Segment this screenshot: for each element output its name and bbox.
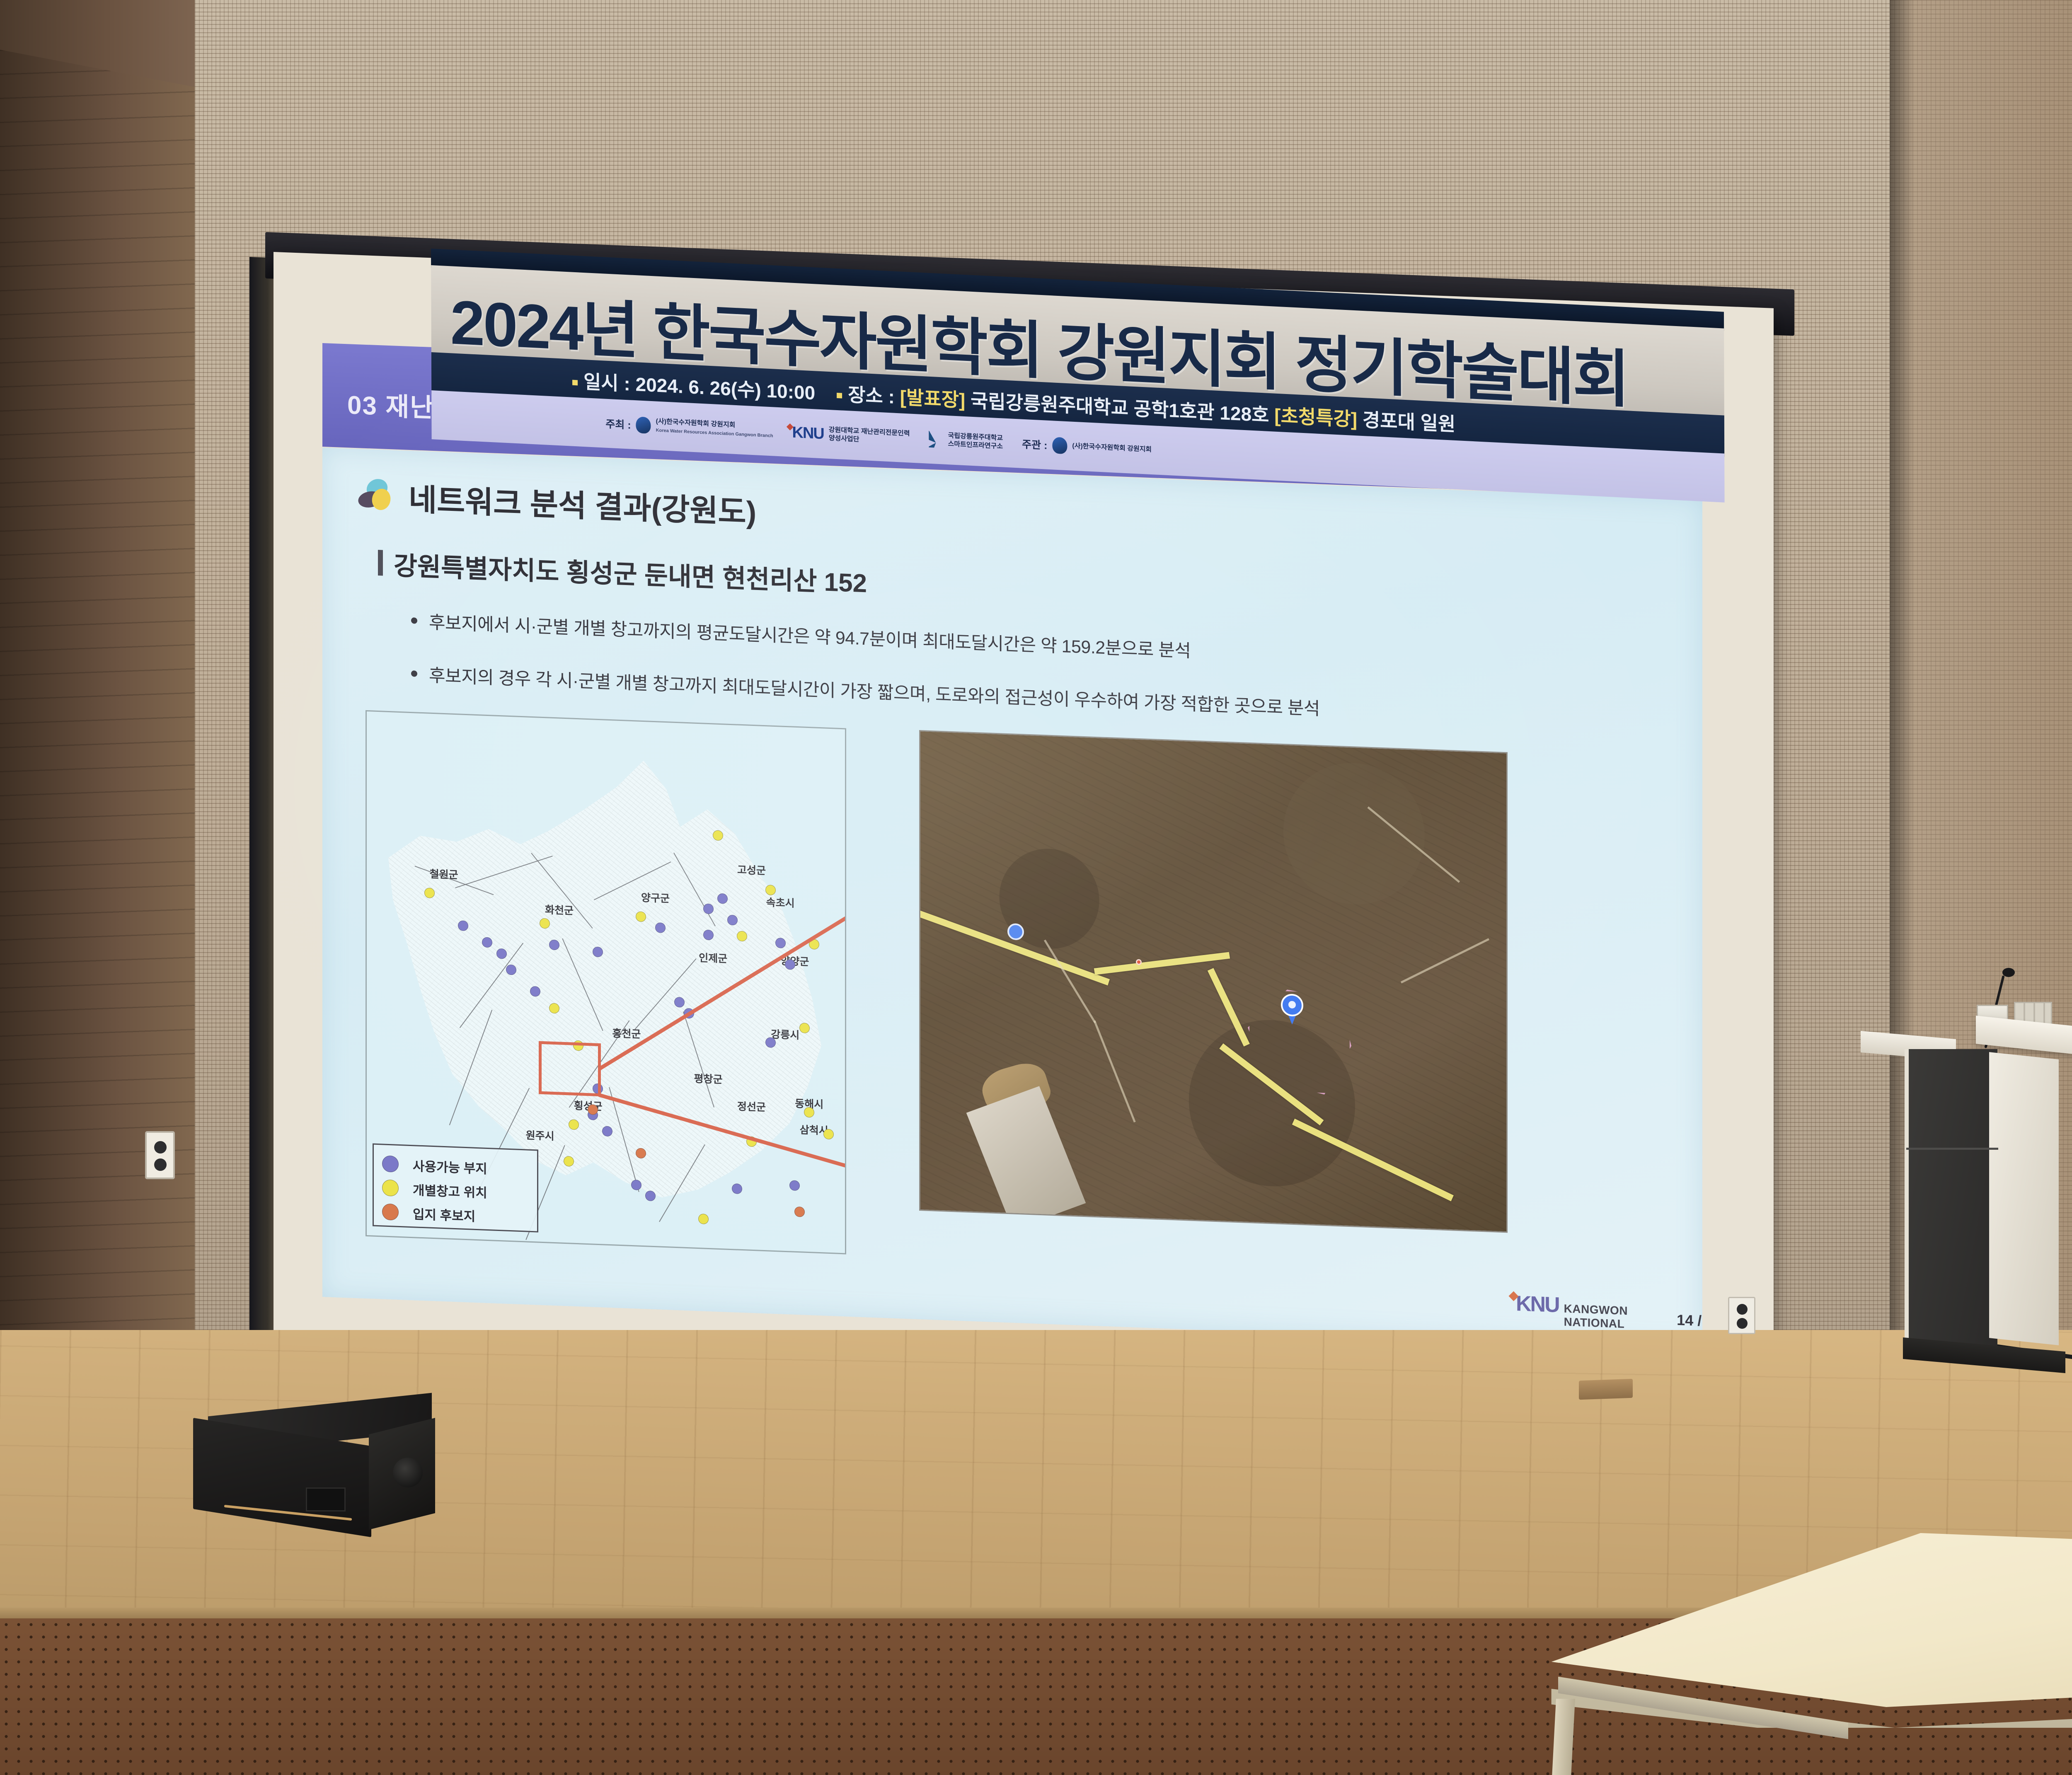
legend-label: 개별창고 위치 (413, 1180, 487, 1201)
province-outline (379, 737, 835, 1218)
map-point-available-site (593, 946, 603, 957)
banner-sponsor-gwnu: 국립강릉원주대학교 스마트인프라연구소 (929, 431, 1003, 451)
map-point-warehouse (424, 888, 435, 898)
map-point-available-site (602, 1126, 612, 1137)
bullet-text: 후보지에서 시·군별 개별 창고까지의 평균도달시간은 약 94.7분이며 최대… (429, 608, 1191, 663)
banner-bullet-square-icon (837, 393, 842, 399)
bullet-dot-icon (411, 670, 417, 677)
map-point-warehouse (765, 885, 776, 895)
projected-slide: 네트워크 분석 결과(강원도) 강원특별자치도 횡성군 둔내면 현천리산 152… (322, 447, 1702, 1349)
banner-sponsor-knu: KNU 강원대학교 재난관리전문인력 양성사업단 (792, 423, 910, 447)
stage-floor-inset-panel (1579, 1379, 1633, 1400)
banner-host-name-ko: (사)한국수자원학회 강원지회 (656, 418, 736, 429)
banner-host-name: (사)한국수자원학회 강원지회 Korea Water Resources As… (656, 418, 773, 440)
county-label: 정선군 (737, 1098, 766, 1115)
podium-drawer-seam (1906, 1148, 1998, 1150)
road-node-marker (1007, 923, 1024, 941)
map-point-warehouse (737, 931, 747, 942)
knu-sponsor-text: 강원대학교 재난관리전문인력 양성사업단 (829, 426, 910, 447)
bullet-dot-icon (411, 617, 417, 624)
county-label: 철원군 (430, 866, 458, 882)
speaker-connector-port (306, 1487, 346, 1511)
legend-swatch-warehouse (382, 1179, 399, 1197)
map-point-available-site (703, 929, 714, 940)
foreground-folding-table (1508, 1533, 2072, 1775)
screen-side-curtain (249, 257, 275, 1352)
slide-bullet-item: 후보지의 경우 각 시·군별 개별 창고까지 최대도달시간이 가장 짧으며, 도… (411, 660, 1320, 720)
map-point-candidate (588, 1104, 598, 1115)
map-point-warehouse (636, 911, 646, 922)
knu-logo-mark: KNU (1516, 1291, 1559, 1318)
county-label: 인제군 (699, 950, 727, 966)
county-label: 원주시 (526, 1127, 554, 1144)
left-wall-wood-panel (0, 50, 195, 1492)
slide-subtitle: 강원특별자치도 횡성군 둔내면 현천리산 152 (394, 544, 867, 600)
banner-venue-text-2: 경포대 일원 (1363, 409, 1456, 435)
county-label: 홍천군 (612, 1025, 641, 1042)
map-point-available-site (703, 903, 714, 914)
banner-organizer-name: (사)한국수자원학회 강원지회 (1072, 442, 1152, 454)
map-legend: 사용가능 부지 개별창고 위치 입지 후보지 (373, 1144, 538, 1233)
podium-dark-body (1906, 1049, 1997, 1347)
map-point-available-site (482, 937, 492, 948)
banner-bullet-square-icon (572, 380, 578, 386)
map-point-warehouse (799, 1023, 810, 1033)
podium-side-panel (1989, 1052, 2059, 1345)
map-point-available-site (506, 964, 516, 975)
county-label: 고성군 (737, 861, 766, 878)
knu-sponsor-logo-mark: KNU (792, 423, 823, 443)
legend-swatch-available-site (382, 1155, 399, 1173)
conference-room-scene: 03 재난안전시설 운영방안 네트워크 분석 결과(강원도) 강원특별자치도 횡… (0, 0, 2072, 1775)
banner-venue-tag-1: [발표장] (900, 386, 966, 411)
wall-socket-plate[interactable] (145, 1131, 175, 1179)
gwnu-sponsor-line-1: 국립강릉원주대학교 (948, 432, 1003, 442)
banner-host-label: 주최 : (605, 416, 631, 432)
gwnu-sponsor-line-2: 스마트인프라연구소 (948, 440, 1003, 450)
slide-bullet-item: 후보지에서 시·군별 개별 창고까지의 평균도달시간은 약 94.7분이며 최대… (411, 607, 1320, 667)
map-point-available-site (645, 1190, 656, 1201)
table-leg (1552, 1699, 1575, 1775)
gwnu-sponsor-text: 국립강릉원주대학교 스마트인프라연구소 (948, 432, 1003, 451)
map-point-warehouse (569, 1119, 579, 1130)
slide-subtitle-row: 강원특별자치도 횡성군 둔내면 현천리산 152 (378, 544, 867, 600)
gooseneck-microphone-head (2002, 968, 2015, 977)
banner-organizer-label: 주관 : (1022, 436, 1047, 452)
map-point-available-site (785, 959, 795, 970)
small-red-point-marker (1136, 959, 1142, 965)
map-point-warehouse (564, 1156, 574, 1167)
banner-date-text: 일시 : 2024. 6. 26(수) 10:00 (583, 371, 815, 404)
map-point-available-site (631, 1180, 641, 1190)
map-point-warehouse (804, 1107, 814, 1118)
map-point-available-site (789, 1180, 800, 1191)
podium-floor-socket[interactable] (1728, 1297, 1755, 1334)
speaker-woofer-icon (393, 1458, 423, 1487)
banner-host-block: 주최 : (사)한국수자원학회 강원지회 Korea Water Resourc… (605, 415, 773, 440)
gwnu-logo-icon (929, 431, 943, 448)
county-label: 강릉시 (771, 1026, 799, 1042)
banner-venue-label: 장소 : (848, 384, 895, 408)
location-pin-icon (1281, 994, 1303, 1025)
map-point-warehouse (698, 1214, 709, 1224)
stage-monitor-speaker (186, 1405, 443, 1529)
terrain-relief-shading (379, 737, 835, 1218)
podium-edge-trim (1905, 1049, 1909, 1346)
legend-row: 입지 후보지 (382, 1199, 529, 1229)
legend-label: 입지 후보지 (413, 1204, 475, 1225)
subtitle-tick-marker (378, 550, 383, 576)
county-label: 화천군 (545, 902, 574, 918)
slide-title: 네트워크 분석 결과(강원도) (409, 475, 756, 532)
kwra-logo-icon-2 (1052, 437, 1067, 454)
map-point-available-site (732, 1183, 742, 1194)
map-point-warehouse (713, 830, 723, 841)
map-point-available-site (674, 997, 685, 1008)
kwra-logo-icon (636, 416, 651, 434)
map-point-warehouse (823, 1129, 834, 1139)
lectern-podium (1865, 1011, 2072, 1388)
legend-swatch-candidate (382, 1203, 399, 1221)
banner-venue-tag-2: [초청특강] (1274, 405, 1357, 430)
table-top-surface (1508, 1533, 2072, 1707)
gangwon-province-map: 철원군화천군양구군고성군속초시인제군양양군홍천군강릉시평창군정선군동해시삼척시횡… (366, 710, 846, 1255)
legend-label: 사용가능 부지 (413, 1156, 487, 1177)
map-point-candidate (794, 1207, 805, 1217)
county-label: 속초시 (766, 894, 795, 910)
map-point-available-site (458, 920, 468, 931)
satellite-image-panel (919, 730, 1508, 1233)
map-point-available-site (496, 948, 507, 959)
map-point-available-site (775, 938, 786, 948)
county-label: 평창군 (694, 1071, 723, 1087)
banner-organizer-block: 주관 : (사)한국수자원학회 강원지회 (1022, 435, 1152, 458)
tri-petal-bullet-icon (358, 479, 396, 513)
county-label: 양구군 (641, 890, 670, 906)
map-point-available-site (727, 915, 738, 926)
bullet-text: 후보지의 경우 각 시·군별 개별 창고까지 최대도달시간이 가장 짧으며, 도… (429, 661, 1320, 721)
slide-title-row: 네트워크 분석 결과(강원도) (358, 473, 756, 532)
banner-host-name-en: Korea Water Resources Association Gangwo… (656, 428, 773, 439)
knu-sponsor-line-2: 양성사업단 (829, 435, 859, 443)
zoom-callout-box (539, 1041, 601, 1097)
